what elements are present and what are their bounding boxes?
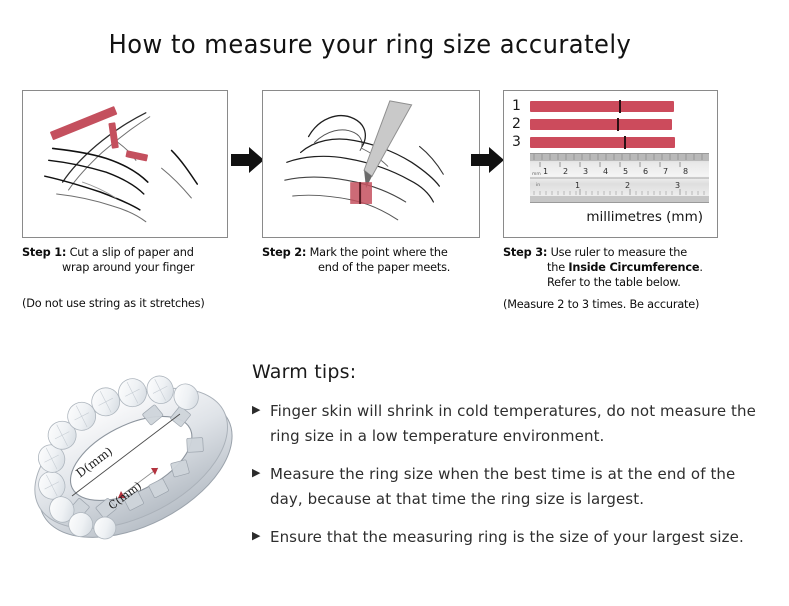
tip-item: ▶ Ensure that the measuring ring is the … — [252, 525, 772, 550]
warm-tips-section: Warm tips: ▶ Finger skin will shrink in … — [252, 361, 772, 563]
svg-text:1: 1 — [543, 167, 548, 176]
step-1-caption: Step 1: Cut a slip of paper and wrap aro… — [22, 245, 228, 275]
tip-text: Measure the ring size when the best time… — [270, 462, 772, 512]
paper-strip-shape — [50, 106, 148, 161]
step-1-column: Step 1: Cut a slip of paper and wrap aro… — [22, 90, 228, 310]
step-2-line2: end of the paper meets. — [262, 260, 480, 275]
measured-strip-row: 3 — [512, 135, 709, 149]
arrow-right-icon — [471, 145, 505, 175]
svg-text:2: 2 — [563, 167, 568, 176]
strip-mark — [619, 100, 621, 113]
step-3-line3: Refer to the table below. — [503, 275, 718, 290]
svg-text:2: 2 — [625, 181, 630, 190]
step-3-column: 1 2 3 — [503, 90, 718, 311]
measured-strip-row: 1 — [512, 99, 709, 113]
svg-text:7: 7 — [663, 167, 668, 176]
hand-marking-paper-illustration — [263, 91, 479, 238]
step-3-panel: 1 2 3 — [503, 90, 718, 238]
svg-text:in: in — [536, 182, 540, 188]
svg-text:3: 3 — [675, 181, 680, 190]
ruler-scales: 12 34 56 78 mm 123 in — [530, 154, 709, 202]
step-2-panel — [262, 90, 480, 238]
step-3-label: Step 3: — [503, 246, 547, 259]
paper-strip — [530, 137, 675, 148]
warm-tips-heading: Warm tips: — [252, 361, 772, 383]
steps-row: Step 1: Cut a slip of paper and wrap aro… — [0, 90, 789, 340]
step-1-label: Step 1: — [22, 246, 66, 259]
step-1-panel — [22, 90, 228, 238]
step-3-line1: Use ruler to measure the — [551, 246, 687, 259]
page-title: How to measure your ring size accurately — [26, 30, 714, 60]
svg-text:6: 6 — [643, 167, 648, 176]
strip-number: 3 — [512, 135, 530, 149]
step-2-caption: Step 2: Mark the point where the end of … — [262, 245, 480, 275]
step-1-line2: wrap around your finger — [22, 260, 228, 275]
ruler-illustration: 12 34 56 78 mm 123 in — [530, 153, 709, 203]
ring-band — [18, 350, 248, 566]
step-1-note: (Do not use string as it stretches) — [22, 297, 228, 310]
step-3-caption: Step 3: Use ruler to measure the the Ins… — [503, 245, 718, 290]
bullet-triangle-icon: ▶ — [252, 525, 270, 541]
measured-strip-row: 2 — [512, 117, 709, 131]
tip-item: ▶ Measure the ring size when the best ti… — [252, 462, 772, 512]
lower-section: D(mm) C(mm) Warm tips: ▶ Finger skin wil… — [0, 345, 789, 606]
unit-caption: millimetres (mm) — [530, 203, 709, 225]
svg-text:5: 5 — [623, 167, 628, 176]
paper-strip — [530, 101, 674, 112]
step-3-line2-pre: the — [547, 261, 568, 274]
step-2-line1: Mark the point where the — [310, 246, 448, 259]
step-3-line2-post: . — [699, 261, 702, 274]
hand-with-paper-strip-illustration — [23, 91, 227, 238]
strip-mark — [624, 136, 626, 149]
step-3-note: (Measure 2 to 3 times. Be accurate) — [503, 298, 718, 311]
arrow-right-icon — [231, 145, 265, 175]
svg-text:8: 8 — [683, 167, 688, 176]
svg-text:1: 1 — [575, 181, 580, 190]
svg-text:mm: mm — [532, 172, 541, 177]
svg-text:3: 3 — [583, 167, 588, 176]
step-2-label: Step 2: — [262, 246, 306, 259]
marked-paper-strip — [350, 182, 372, 204]
tip-text: Finger skin will shrink in cold temperat… — [270, 399, 772, 449]
step-1-line1: Cut a slip of paper and — [70, 246, 194, 259]
strip-mark — [617, 118, 619, 131]
svg-text:4: 4 — [603, 167, 608, 176]
bullet-triangle-icon: ▶ — [252, 399, 270, 415]
tip-text: Ensure that the measuring ring is the si… — [270, 525, 744, 550]
paper-strip — [530, 119, 672, 130]
ring-diagram: D(mm) C(mm) — [18, 350, 248, 575]
step-2-column: Step 2: Mark the point where the end of … — [262, 90, 480, 275]
step-3-line2: the Inside Circumference. — [503, 260, 718, 275]
strip-number: 1 — [512, 99, 530, 113]
inside-circumference-emphasis: Inside Circumference — [568, 261, 699, 274]
strip-number: 2 — [512, 117, 530, 131]
bullet-triangle-icon: ▶ — [252, 462, 270, 478]
tip-item: ▶ Finger skin will shrink in cold temper… — [252, 399, 772, 449]
